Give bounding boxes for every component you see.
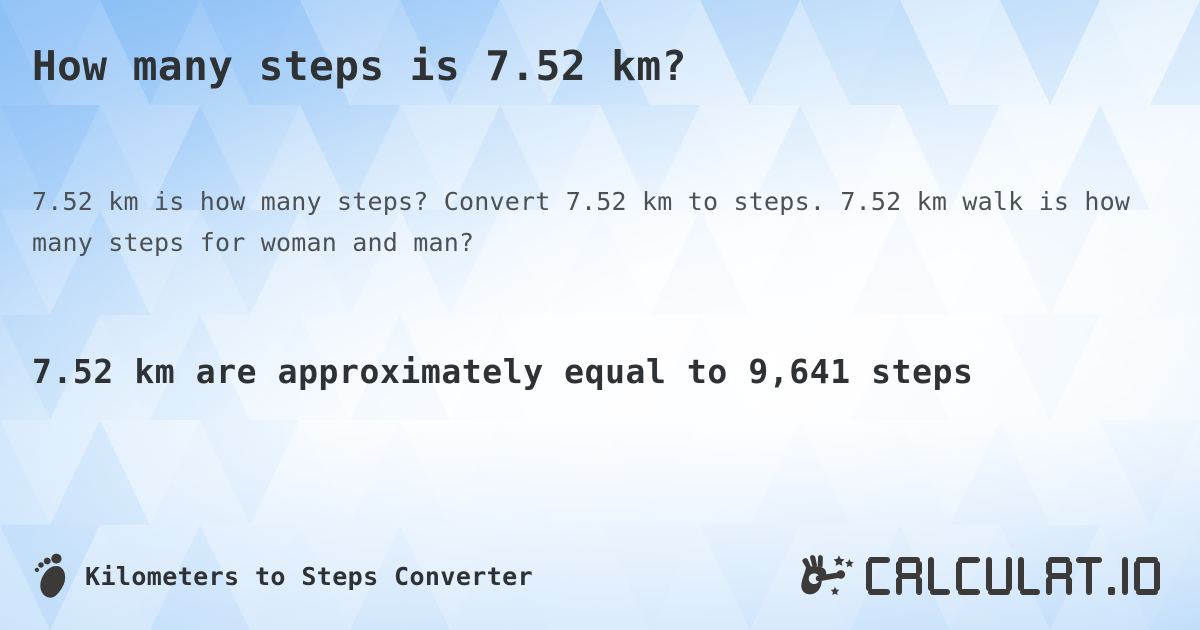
footprint-icon	[34, 553, 68, 599]
conversion-result: 7.52 km are approximately equal to 9,641…	[32, 352, 1172, 391]
brand-logo[interactable]: CALCULAT.IO	[799, 553, 1166, 599]
footer-converter-label: Kilometers to Steps Converter	[85, 562, 533, 591]
card-content: How many steps is 7.52 km? 7.52 km is ho…	[0, 0, 1200, 630]
og-card: How many steps is 7.52 km? 7.52 km is ho…	[0, 0, 1200, 630]
page-title: How many steps is 7.52 km?	[32, 42, 1172, 90]
magic-wand-hand-icon	[799, 553, 857, 599]
calculatio-wordmark: CALCULAT.IO	[866, 553, 1166, 599]
footer: Kilometers to Steps Converter	[0, 546, 1200, 606]
page-description: 7.52 km is how many steps? Convert 7.52 …	[32, 182, 1142, 263]
footer-left-group: Kilometers to Steps Converter	[34, 553, 533, 599]
